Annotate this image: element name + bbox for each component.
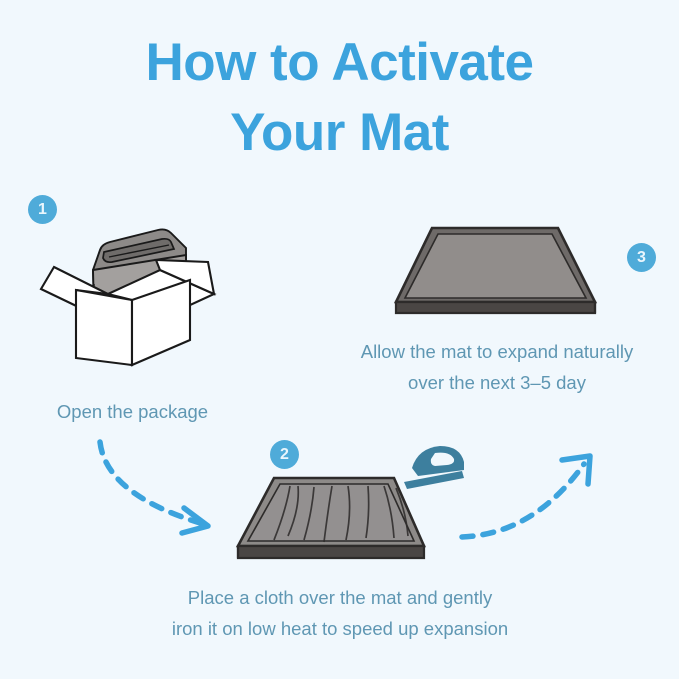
title-line-1: How to Activate <box>0 28 679 98</box>
flat-mat-illustration <box>392 214 617 329</box>
step-1-caption: Open the package <box>0 396 265 427</box>
wrinkled-mat-illustration <box>228 466 428 571</box>
step-2-caption-line-1: Place a cloth over the mat and gently <box>105 582 575 613</box>
page-title: How to Activate Your Mat <box>0 28 679 168</box>
infographic-canvas: How to Activate Your Mat 1 <box>0 0 679 679</box>
step-1-badge: 1 <box>28 195 57 224</box>
step-3-caption: Allow the mat to expand naturally over t… <box>312 336 679 398</box>
step-2-caption: Place a cloth over the mat and gently ir… <box>105 582 575 644</box>
open-box-illustration <box>38 222 228 372</box>
arrow-step2-to-step3 <box>458 438 608 548</box>
step-2-badge: 2 <box>270 440 299 469</box>
step-2-caption-line-2: iron it on low heat to speed up expansio… <box>105 613 575 644</box>
step-3-caption-line-1: Allow the mat to expand naturally <box>312 336 679 367</box>
step-3-caption-line-2: over the next 3–5 day <box>312 367 679 398</box>
step-3-badge: 3 <box>627 243 656 272</box>
title-line-2: Your Mat <box>0 98 679 168</box>
arrow-step1-to-step2 <box>92 436 237 546</box>
